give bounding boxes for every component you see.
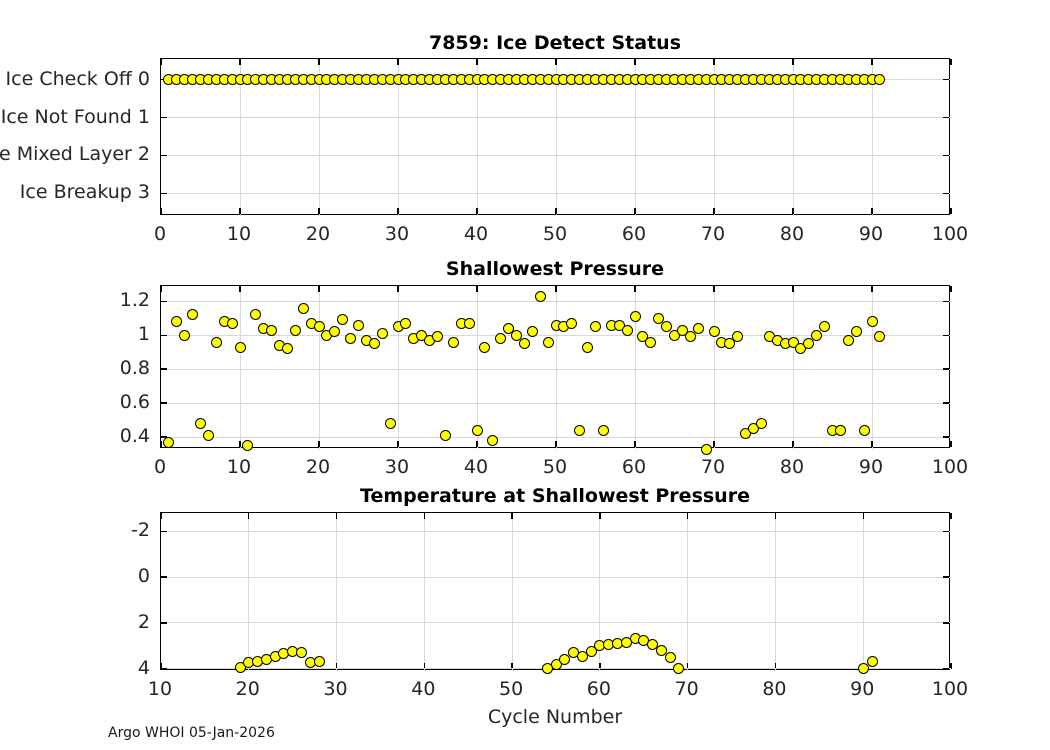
y-axis-tick: [943, 622, 949, 623]
y-tick-label: 2: [0, 611, 150, 633]
data-point: [867, 656, 878, 667]
x-tick-label: 90: [850, 678, 874, 700]
gridline-vertical: [775, 513, 776, 671]
gridline-vertical: [336, 513, 337, 671]
gridline-horizontal: [161, 622, 951, 623]
gridline-horizontal: [161, 577, 951, 578]
y-tick-label: 0: [0, 565, 150, 587]
y-axis-tick: [161, 622, 167, 623]
x-axis-tick: [687, 513, 688, 519]
footer-credit: Argo WHOI 05-Jan-2026: [108, 725, 275, 741]
plot-area-3: [160, 512, 950, 670]
data-point: [296, 647, 307, 658]
x-tick-label: 100: [932, 678, 968, 700]
x-axis-tick: [248, 513, 249, 519]
panel-title-3: Temperature at Shallowest Pressure: [160, 485, 950, 507]
x-tick-label: 10: [148, 678, 172, 700]
data-point: [858, 663, 869, 674]
x-tick-label: 50: [499, 678, 523, 700]
y-axis-tick: [161, 668, 167, 669]
x-tick-label: 20: [236, 678, 260, 700]
y-axis-tick: [943, 668, 949, 669]
chart-panel-3: Temperature at Shallowest Pressure102030…: [0, 0, 1050, 750]
data-point: [314, 656, 325, 667]
gridline-vertical: [512, 513, 513, 671]
y-axis-tick: [161, 531, 167, 532]
x-axis-tick: [599, 513, 600, 519]
x-tick-label: 30: [323, 678, 347, 700]
gridline-horizontal: [161, 531, 951, 532]
gridline-vertical: [424, 513, 425, 671]
x-axis-tick: [336, 513, 337, 519]
gridline-vertical: [863, 513, 864, 671]
x-tick-label: 70: [675, 678, 699, 700]
argo-float-figure: 7859: Ice Detect Status01020304050607080…: [0, 0, 1050, 750]
x-axis-tick: [775, 513, 776, 519]
data-point: [673, 663, 684, 674]
x-axis-tick: [950, 513, 951, 519]
y-axis-tick: [161, 576, 167, 577]
gridline-vertical: [248, 513, 249, 671]
x-tick-label: 80: [762, 678, 786, 700]
x-axis-tick: [160, 513, 161, 519]
data-point: [665, 652, 676, 663]
gridline-vertical: [687, 513, 688, 671]
x-tick-label: 40: [411, 678, 435, 700]
y-axis-tick: [943, 531, 949, 532]
x-axis-tick: [511, 513, 512, 519]
y-axis-tick: [943, 576, 949, 577]
x-axis-label: Cycle Number: [488, 706, 622, 728]
x-axis-tick: [424, 513, 425, 519]
x-axis-tick: [863, 513, 864, 519]
y-tick-label: -2: [0, 519, 150, 541]
x-tick-label: 60: [587, 678, 611, 700]
y-tick-label: 4: [0, 657, 150, 679]
